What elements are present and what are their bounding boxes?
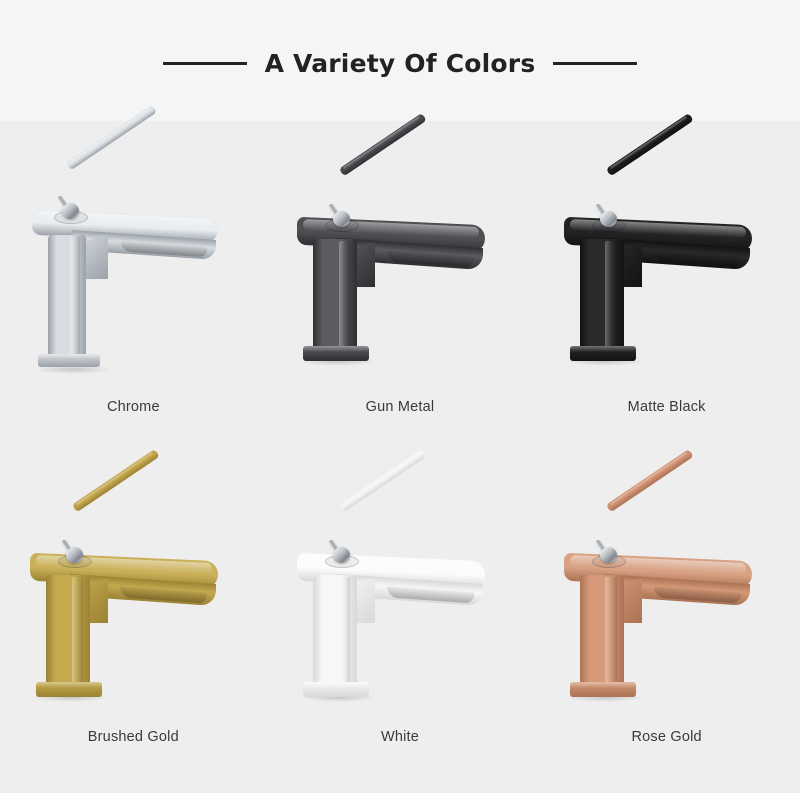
color-variant-rose-gold[interactable]: Rose Gold [533,457,800,793]
faucet-chrome-pivot-icon [600,211,617,227]
color-variant-grid: ChromeGun MetalMatte BlackBrushed GoldWh… [0,121,800,793]
page-header: A Variety Of Colors [0,0,800,121]
faucet-body-column [580,239,624,351]
faucet-lever-handle [605,449,693,512]
color-variant-label: Brushed Gold [0,729,267,745]
header-rule-right-icon [553,62,637,65]
faucet-base-plate [36,682,102,697]
product-image-stage [285,479,515,729]
color-variant-label: White [267,729,534,745]
color-variant-gun-metal[interactable]: Gun Metal [267,121,534,457]
faucet-illustration-gun-metal [285,143,515,393]
faucet-body-column [46,575,90,687]
faucet-base-plate [303,346,369,361]
faucet-illustration-chrome [18,143,248,393]
color-variant-label: Rose Gold [533,729,800,745]
page-title: A Variety Of Colors [265,49,536,78]
faucet-lever-handle [339,113,427,176]
color-variant-white[interactable]: White [267,457,534,793]
color-variant-label: Matte Black [533,399,800,415]
faucet-body-column [313,575,357,687]
header-rule-left-icon [163,62,247,65]
faucet-illustration-brushed-gold [18,479,248,729]
faucet-base-plate [38,354,100,367]
faucet-body-column [313,239,357,351]
product-image-stage [552,479,782,729]
faucet-chrome-pivot-icon [333,211,350,227]
faucet-base-plate [570,346,636,361]
faucet-body-column [48,235,86,359]
product-image-stage [18,479,248,729]
product-image-stage [552,143,782,393]
faucet-chrome-pivot-icon [333,547,350,563]
faucet-chrome-pivot-icon [600,547,617,563]
color-variant-matte-black[interactable]: Matte Black [533,121,800,457]
product-image-stage [285,143,515,393]
faucet-base-plate [570,682,636,697]
faucet-lever-handle [72,449,160,512]
faucet-base-plate [303,682,369,697]
color-variant-label: Chrome [0,399,267,415]
faucet-illustration-white [285,479,515,729]
color-variant-label: Gun Metal [267,399,534,415]
faucet-illustration-rose-gold [552,479,782,729]
faucet-lever-handle [605,113,693,176]
product-color-variants-page: A Variety Of Colors ChromeGun MetalMatte… [0,0,800,793]
faucet-illustration-matte-black [552,143,782,393]
header-inner: A Variety Of Colors [163,49,638,78]
product-image-stage [18,143,248,393]
faucet-lever-handle [339,449,427,512]
faucet-body-column [580,575,624,687]
color-variant-brushed-gold[interactable]: Brushed Gold [0,457,267,793]
color-variant-chrome[interactable]: Chrome [0,121,267,457]
